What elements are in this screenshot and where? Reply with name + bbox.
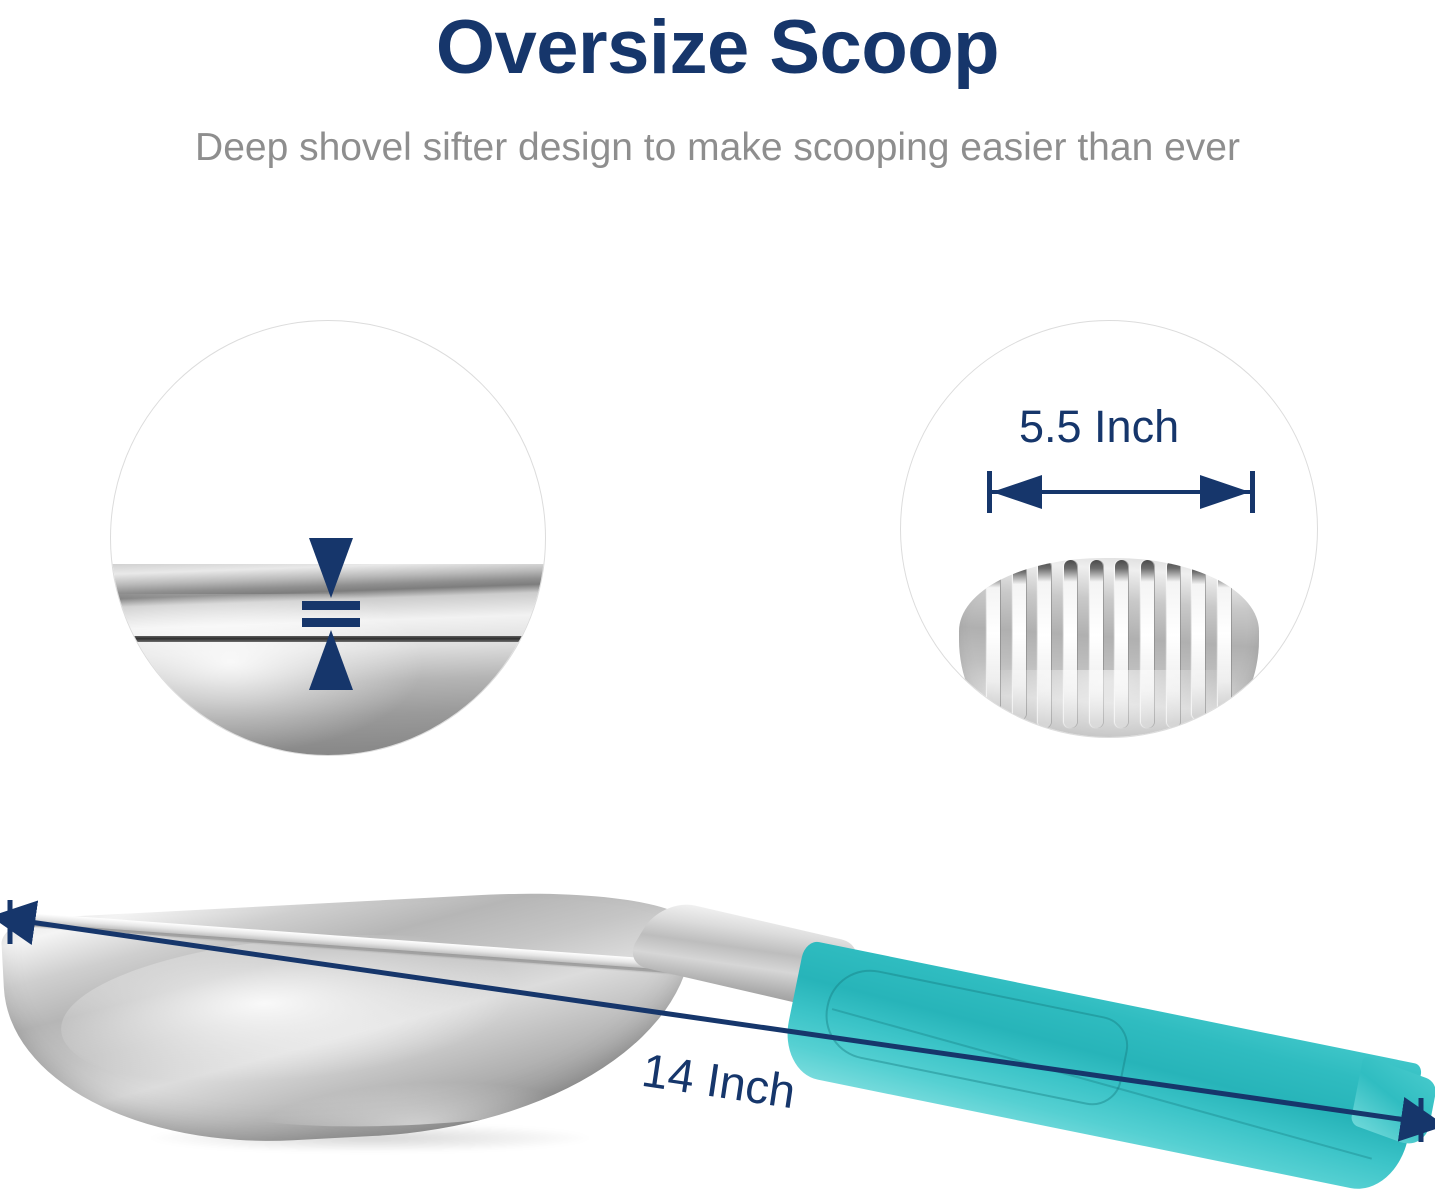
page-title: Oversize Scoop [0,0,1435,86]
page-subtitle: Deep shovel sifter design to make scoopi… [0,86,1435,167]
header: Oversize Scoop Deep shovel sifter design… [0,0,1435,167]
arrow-end-cap-right [1250,471,1255,513]
sifter-slot-group [987,560,1231,728]
thickness-indicator [307,538,355,690]
feature-circle-width: 5.5 Inch [900,320,1318,738]
arrow-head-left-icon [992,475,1042,509]
sifter-slot [1038,560,1051,728]
sifter-slot [1167,560,1180,728]
product-photo: 14 [0,860,1435,1189]
sifter-slot [1192,564,1205,720]
sifter-slot [987,569,1000,713]
length-dimension-value: 14 [0,860,1,861]
thickness-bar-bottom [302,618,360,627]
arrow-head-right-icon [1200,475,1250,509]
triangle-up-icon [309,630,353,690]
sifter-slot [1115,560,1128,728]
sifter-slot [1013,564,1026,720]
scoop-handle [779,939,1423,1197]
sifter-slot [1218,569,1231,713]
feature-circle-thickness: 1/8 Inch [110,320,546,756]
width-caption-label: 5.5 Inch [1019,404,1179,449]
width-dimension-arrow-icon [987,471,1255,513]
sifter-slot [1064,560,1077,728]
sifter-slot [1141,560,1154,728]
thickness-bar-top [302,601,360,610]
triangle-down-icon [309,538,353,598]
slotted-sifter-head-image [959,558,1259,738]
sifter-slot [1090,560,1103,728]
